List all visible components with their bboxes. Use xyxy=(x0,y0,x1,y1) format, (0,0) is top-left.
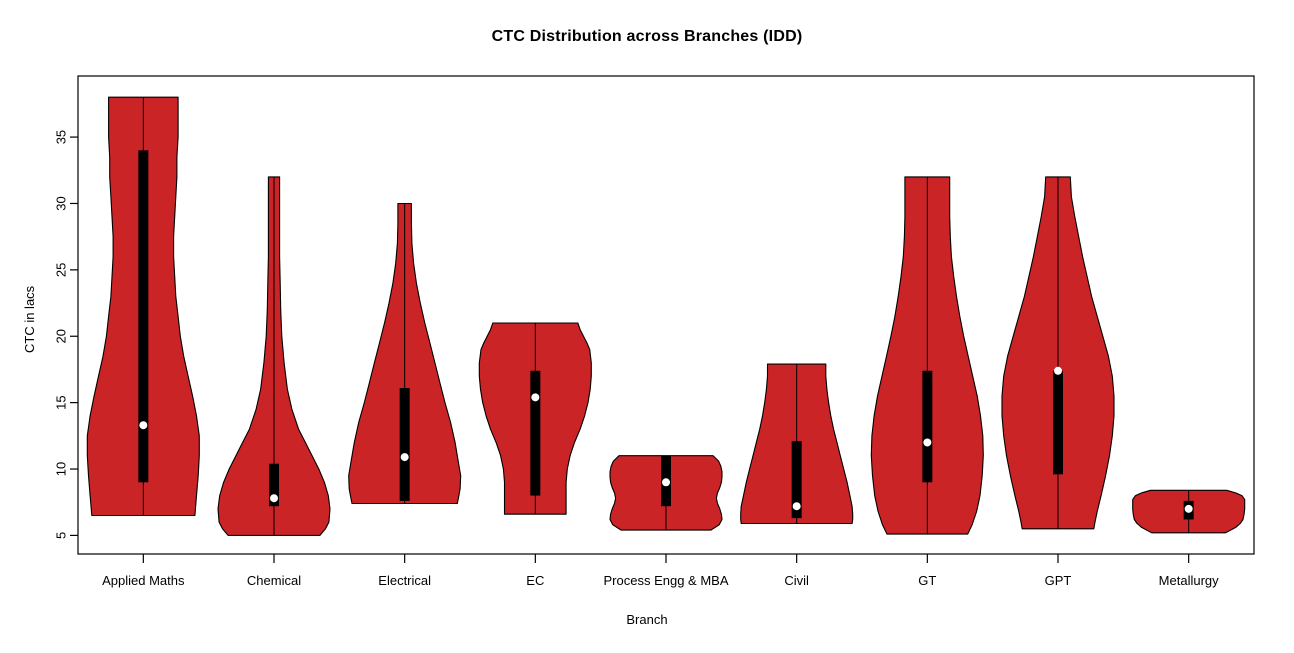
violin-plot-figure: CTC Distribution across Branches (IDD) C… xyxy=(0,0,1294,653)
median-marker xyxy=(531,393,539,401)
x-tick-label: GT xyxy=(918,573,936,588)
x-tick-label: GPT xyxy=(1045,573,1072,588)
iqr-box xyxy=(922,371,932,483)
violin-group xyxy=(87,97,1244,535)
y-tick-label: 35 xyxy=(53,130,68,144)
x-tick-label: Applied Maths xyxy=(102,573,185,588)
x-tick-label: Electrical xyxy=(378,573,431,588)
x-tick-label: Chemical xyxy=(247,573,301,588)
iqr-box xyxy=(530,371,540,496)
y-axis-ticks: 5101520253035 xyxy=(53,130,78,539)
median-marker xyxy=(793,502,801,510)
x-axis-ticks: Applied MathsChemicalElectricalECProcess… xyxy=(102,554,1219,588)
y-tick-label: 30 xyxy=(53,196,68,210)
plot-canvas: 5101520253035 Applied MathsChemicalElect… xyxy=(0,0,1294,653)
iqr-box xyxy=(400,388,410,501)
y-tick-label: 15 xyxy=(53,395,68,409)
median-marker xyxy=(139,421,147,429)
iqr-box xyxy=(1053,371,1063,475)
y-tick-label: 25 xyxy=(53,263,68,277)
y-tick-label: 10 xyxy=(53,462,68,476)
median-marker xyxy=(270,494,278,502)
x-tick-label: Process Engg & MBA xyxy=(604,573,729,588)
x-tick-label: Civil xyxy=(784,573,809,588)
median-marker xyxy=(923,438,931,446)
median-marker xyxy=(662,478,670,486)
median-marker xyxy=(401,453,409,461)
iqr-box xyxy=(138,150,148,482)
x-tick-label: Metallurgy xyxy=(1159,573,1219,588)
y-tick-label: 20 xyxy=(53,329,68,343)
median-marker xyxy=(1054,367,1062,375)
x-tick-label: EC xyxy=(526,573,544,588)
median-marker xyxy=(1185,505,1193,513)
y-tick-label: 5 xyxy=(53,532,68,539)
